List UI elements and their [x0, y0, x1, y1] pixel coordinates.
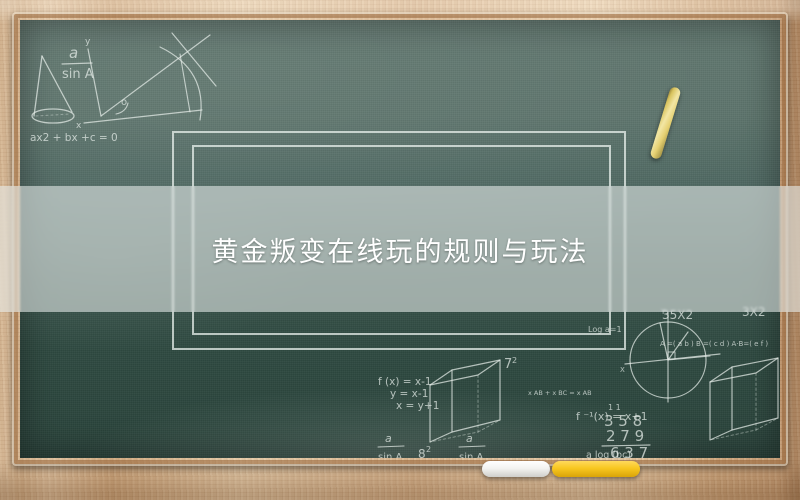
svg-text:f (x) = x-1: f (x) = x-1	[378, 376, 432, 388]
quadratic-equation: ax2 + bx +c = 0	[30, 132, 118, 144]
svg-text:sin A: sin A	[459, 452, 484, 458]
exponent-seven-squared: 7 2	[504, 356, 517, 372]
svg-text:y = x-1: y = x-1	[390, 388, 428, 400]
svg-text:8: 8	[418, 447, 426, 458]
svg-text:sin A: sin A	[378, 452, 403, 458]
svg-text:a: a	[69, 44, 78, 62]
svg-text:6 3 7: 6 3 7	[610, 444, 648, 458]
svg-text:sin A: sin A	[62, 67, 94, 82]
circle-with-axes-sketch: Y X	[620, 308, 720, 402]
svg-text:1 1: 1 1	[608, 403, 621, 412]
svg-text:7: 7	[504, 357, 512, 372]
svg-text:a: a	[466, 432, 473, 445]
svg-text:X: X	[620, 366, 625, 374]
svg-text:2 7 9: 2 7 9	[606, 427, 644, 445]
chalk-stick-ledge-white	[482, 461, 550, 477]
cone-sketch	[32, 56, 74, 123]
svg-text:3 5 8: 3 5 8	[604, 412, 642, 430]
svg-text:2: 2	[426, 445, 431, 454]
cube-sketch-center	[430, 360, 500, 442]
svg-text:2: 2	[512, 356, 517, 365]
svg-text:x = y+1: x = y+1	[396, 400, 439, 412]
page-title: 黄金叛变在线玩的规则与玩法	[0, 186, 800, 312]
svg-text:o: o	[121, 97, 127, 108]
fraction-a-over-sinA-topleft: a sin A	[62, 44, 94, 82]
log-expression: a log (bc)	[586, 450, 631, 458]
function-equations: f (x) = x-1 y = x-1 x = y+1	[378, 376, 439, 412]
addition-problem: 1 1 3 5 8 2 7 9 6 3 7	[602, 403, 650, 458]
svg-text:x: x	[76, 121, 82, 131]
label-log-a-1: Log a=1	[588, 325, 622, 334]
chalk-stick-ledge-yellow	[552, 461, 640, 477]
inverse-function-equation: f ⁻¹(x) = x+1	[576, 410, 648, 423]
svg-text:a: a	[385, 432, 392, 445]
fraction-a-over-sinA-bottomleft: a sin A	[378, 432, 404, 458]
matrix-row-expression: A =( a b ) B =( c d ) A·B=( e f )	[660, 340, 768, 348]
exponent-eight-squared: 8 2	[418, 445, 431, 458]
fraction-a-over-sinA-bottommid: a sin A	[459, 432, 485, 458]
angle-construction-sketch: y x o	[76, 33, 216, 131]
segment-addition-expression: x AB + x BC = x AB	[528, 389, 592, 397]
chalkboard-scene: a sin A ax2 + bx +c = 0 y x	[0, 0, 800, 500]
svg-text:y: y	[85, 37, 91, 47]
cube-sketch-right	[710, 358, 778, 440]
